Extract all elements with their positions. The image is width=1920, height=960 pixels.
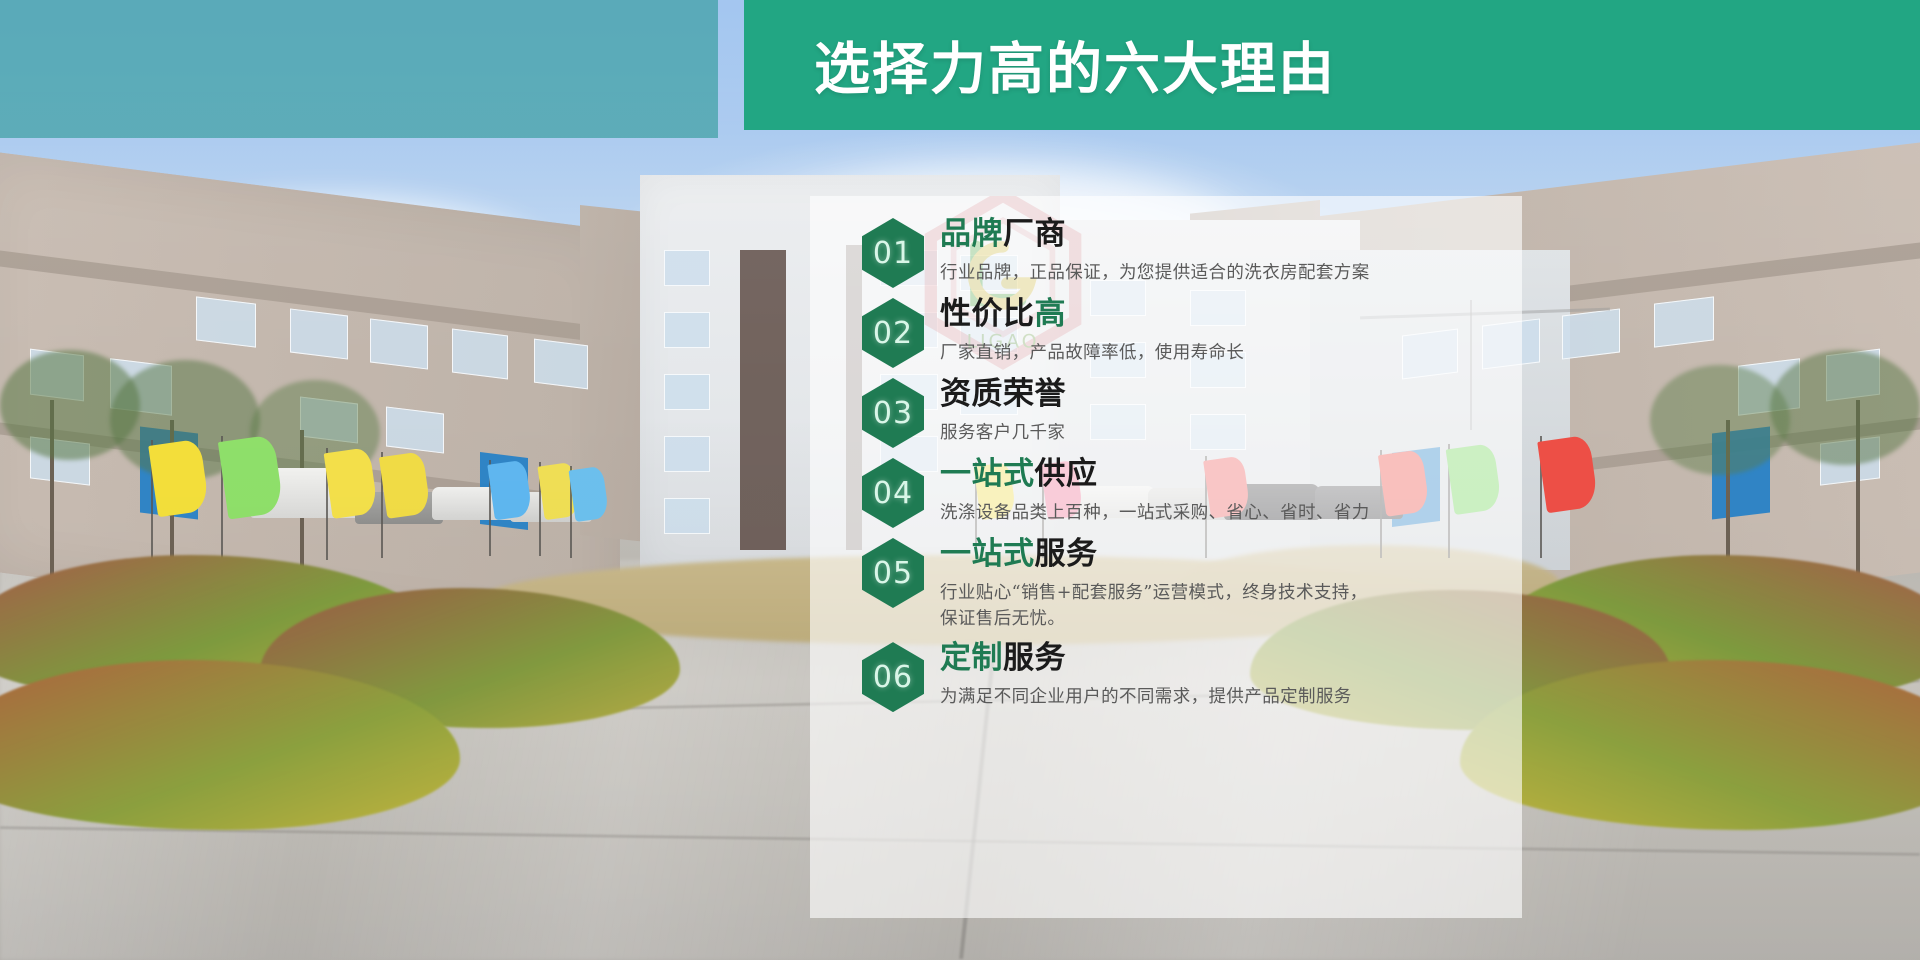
reason-desc: 厂家直销，产品故障率低，使用寿命长 xyxy=(940,340,1244,366)
reason-title: 品牌厂商 xyxy=(940,216,1370,253)
hexagon-badge-03: 03 xyxy=(862,378,924,448)
reason-text-block: 一站式服务 行业贴心“销售+配套服务”运营模式，终身技术支持， 保证售后无忧。 xyxy=(924,534,1368,632)
reason-desc: 服务客户几千家 xyxy=(940,420,1066,446)
tree-crown xyxy=(1770,350,1920,465)
hexagon-badge-05: 05 xyxy=(862,538,924,608)
reason-item-02[interactable]: 02 性价比高 厂家直销，产品故障率低，使用寿命长 xyxy=(862,294,1500,368)
header-green-banner: 选择力高的六大理由 xyxy=(744,0,1920,130)
window xyxy=(664,250,710,286)
reason-title-green: 一站式 xyxy=(940,536,1035,571)
reason-item-03[interactable]: 03 资质荣誉 服务客户几千家 xyxy=(862,374,1500,448)
reason-item-01[interactable]: 01 品牌厂商 行业品牌，正品保证，为您提供适合的洗衣房配套方案 xyxy=(862,214,1500,288)
reason-text-block: 定制服务 为满足不同企业用户的不同需求，提供产品定制服务 xyxy=(924,638,1352,710)
window xyxy=(452,329,508,380)
reason-title: 一站式服务 xyxy=(940,536,1368,573)
reason-title-green: 品牌 xyxy=(940,216,1003,251)
reason-text-block: 性价比高 厂家直销，产品故障率低，使用寿命长 xyxy=(924,294,1244,366)
hexagon-badge-04: 04 xyxy=(862,458,924,528)
reason-number: 02 xyxy=(873,316,913,351)
hexagon-badge-06: 06 xyxy=(862,642,924,712)
reason-title-dark: 服务 xyxy=(1035,536,1098,571)
page-root: 选择力高的六大理由 LIGAO 01 品牌厂商 行业品牌，正品保证，为您提供适合… xyxy=(0,0,1920,960)
window xyxy=(1562,308,1620,359)
window xyxy=(664,436,710,472)
reason-number: 04 xyxy=(873,476,913,511)
reason-number: 05 xyxy=(873,556,913,591)
window xyxy=(664,498,710,534)
reason-item-04[interactable]: 04 一站式供应 洗涤设备品类上百种，一站式采购、省心、省时、省力 xyxy=(862,454,1500,528)
reason-number: 06 xyxy=(873,660,913,695)
reasons-list: 01 品牌厂商 行业品牌，正品保证，为您提供适合的洗衣房配套方案 02 性价比高… xyxy=(810,196,1522,918)
reasons-panel: LIGAO 01 品牌厂商 行业品牌，正品保证，为您提供适合的洗衣房配套方案 0… xyxy=(810,196,1522,918)
window xyxy=(196,296,256,347)
reason-title-dark: 厂商 xyxy=(1003,216,1066,251)
reason-text-block: 品牌厂商 行业品牌，正品保证，为您提供适合的洗衣房配套方案 xyxy=(924,214,1370,286)
window xyxy=(534,339,588,390)
reason-title-dark: 资质荣誉 xyxy=(940,376,1066,411)
window xyxy=(664,374,710,410)
reason-text-block: 资质荣誉 服务客户几千家 xyxy=(924,374,1066,446)
reason-title-dark: 性价比 xyxy=(940,296,1035,331)
tree-crown xyxy=(1650,365,1790,475)
reason-title: 资质荣誉 xyxy=(940,376,1066,413)
window xyxy=(664,312,710,348)
header-teal-overlay xyxy=(0,0,718,138)
reason-title-green: 高 xyxy=(1035,296,1067,331)
reason-title-dark: 服务 xyxy=(1003,640,1066,675)
window xyxy=(370,318,428,369)
hexagon-badge-02: 02 xyxy=(862,298,924,368)
reason-number: 03 xyxy=(873,396,913,431)
reason-title-green: 一站式 xyxy=(940,456,1035,491)
window xyxy=(1654,296,1714,347)
reason-item-06[interactable]: 06 定制服务 为满足不同企业用户的不同需求，提供产品定制服务 xyxy=(862,638,1500,712)
window xyxy=(290,308,348,359)
hexagon-badge-01: 01 xyxy=(862,218,924,288)
reason-title: 性价比高 xyxy=(940,296,1244,333)
reason-title: 定制服务 xyxy=(940,640,1352,677)
reason-title-dark: 供应 xyxy=(1035,456,1098,491)
reason-desc: 为满足不同企业用户的不同需求，提供产品定制服务 xyxy=(940,684,1352,710)
reason-item-05[interactable]: 05 一站式服务 行业贴心“销售+配套服务”运营模式，终身技术支持， 保证售后无… xyxy=(862,534,1500,632)
reason-title: 一站式供应 xyxy=(940,456,1370,493)
reason-title-green: 定制 xyxy=(940,640,1003,675)
reason-desc: 行业贴心“销售+配套服务”运营模式，终身技术支持， 保证售后无忧。 xyxy=(940,580,1368,633)
reason-desc: 行业品牌，正品保证，为您提供适合的洗衣房配套方案 xyxy=(940,260,1370,286)
page-title: 选择力高的六大理由 xyxy=(814,25,1336,106)
facade-stripe xyxy=(740,250,786,550)
window xyxy=(386,406,444,453)
reason-text-block: 一站式供应 洗涤设备品类上百种，一站式采购、省心、省时、省力 xyxy=(924,454,1370,526)
reason-desc: 洗涤设备品类上百种，一站式采购、省心、省时、省力 xyxy=(940,500,1370,526)
reason-number: 01 xyxy=(873,236,913,271)
